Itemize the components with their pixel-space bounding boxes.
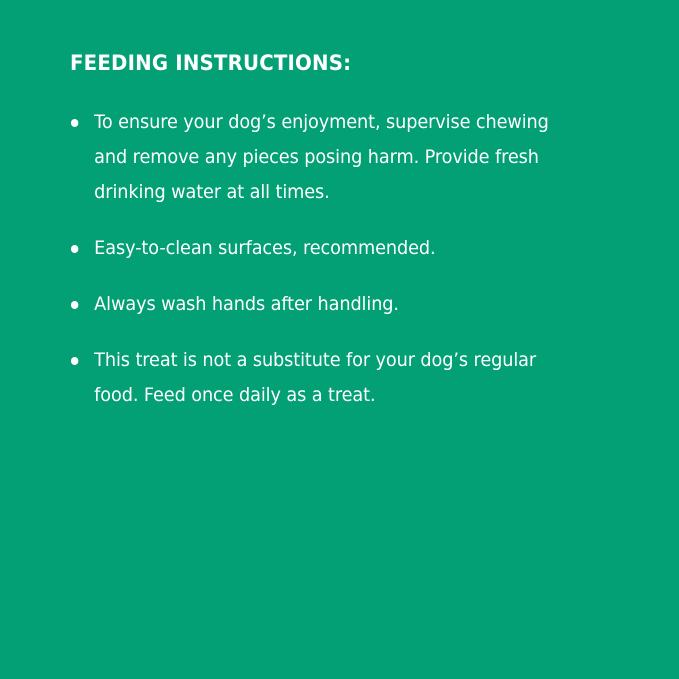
list-item: This treat is not a substitute for your … [70, 343, 577, 413]
list-item-text: Easy-to-clean surfaces, recommended. [94, 231, 577, 266]
list-item-text: To ensure your dog’s enjoyment, supervis… [94, 105, 577, 210]
list-item: Always wash hands after handling. [70, 287, 577, 322]
bullet-dot-icon [71, 119, 78, 127]
page-title: FEEDING INSTRUCTIONS: [70, 50, 582, 76]
instructions-content: FEEDING INSTRUCTIONS: To ensure your dog… [70, 50, 615, 413]
bullet-dot-icon [71, 301, 78, 309]
list-item: To ensure your dog’s enjoyment, supervis… [70, 105, 577, 210]
feeding-instructions-list: To ensure your dog’s enjoyment, supervis… [70, 105, 615, 413]
list-item-text: This treat is not a substitute for your … [94, 343, 577, 413]
list-item-text: Always wash hands after handling. [94, 287, 577, 322]
list-item: Easy-to-clean surfaces, recommended. [70, 231, 577, 266]
bullet-dot-icon [71, 357, 78, 365]
feeding-instructions-panel: FEEDING INSTRUCTIONS: To ensure your dog… [0, 0, 679, 679]
bullet-dot-icon [71, 245, 78, 253]
